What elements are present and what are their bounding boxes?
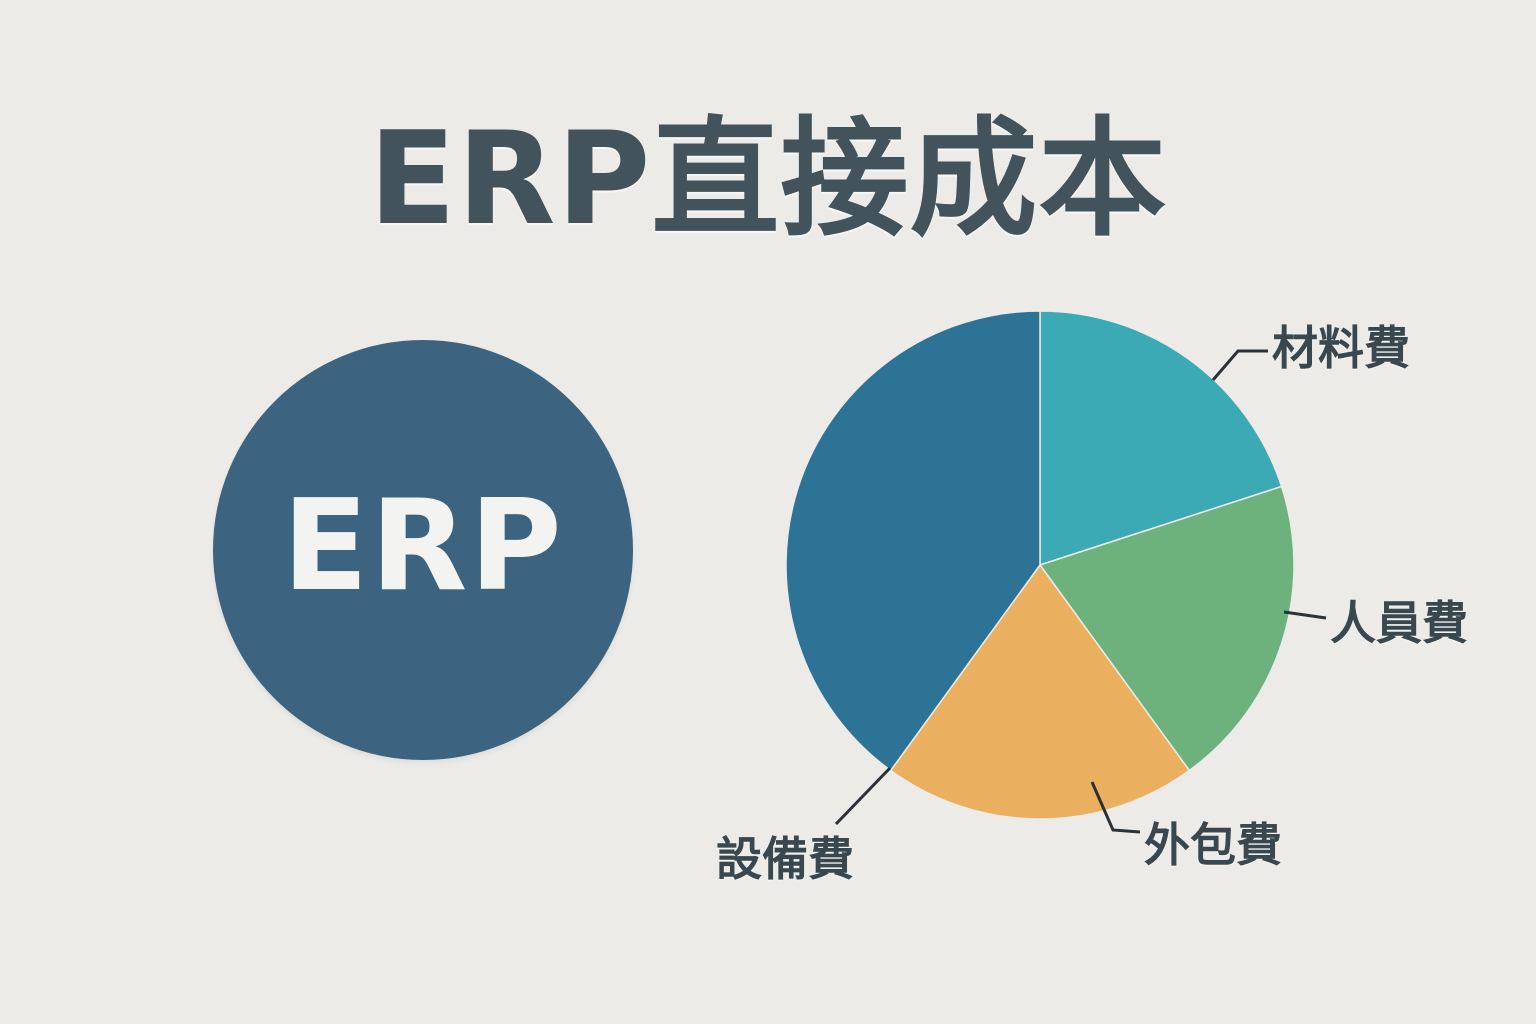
erp-badge-label: ERP (282, 483, 563, 609)
poster-canvas: ERP直接成本 ERP 材料費 人員費 外包費 設備費 (0, 0, 1536, 1024)
callout-label-equipment: 設備費 (716, 836, 854, 882)
erp-badge: ERP (213, 340, 633, 760)
callout-label-material: 材料費 (1272, 325, 1410, 371)
callout-label-outsourcing: 外包費 (1144, 822, 1282, 868)
pie-slices (786, 311, 1294, 819)
page-title: ERP直接成本 (0, 104, 1536, 255)
pie-chart-svg (760, 285, 1320, 845)
callout-label-personnel: 人員費 (1330, 600, 1468, 646)
pie-chart (760, 285, 1320, 845)
